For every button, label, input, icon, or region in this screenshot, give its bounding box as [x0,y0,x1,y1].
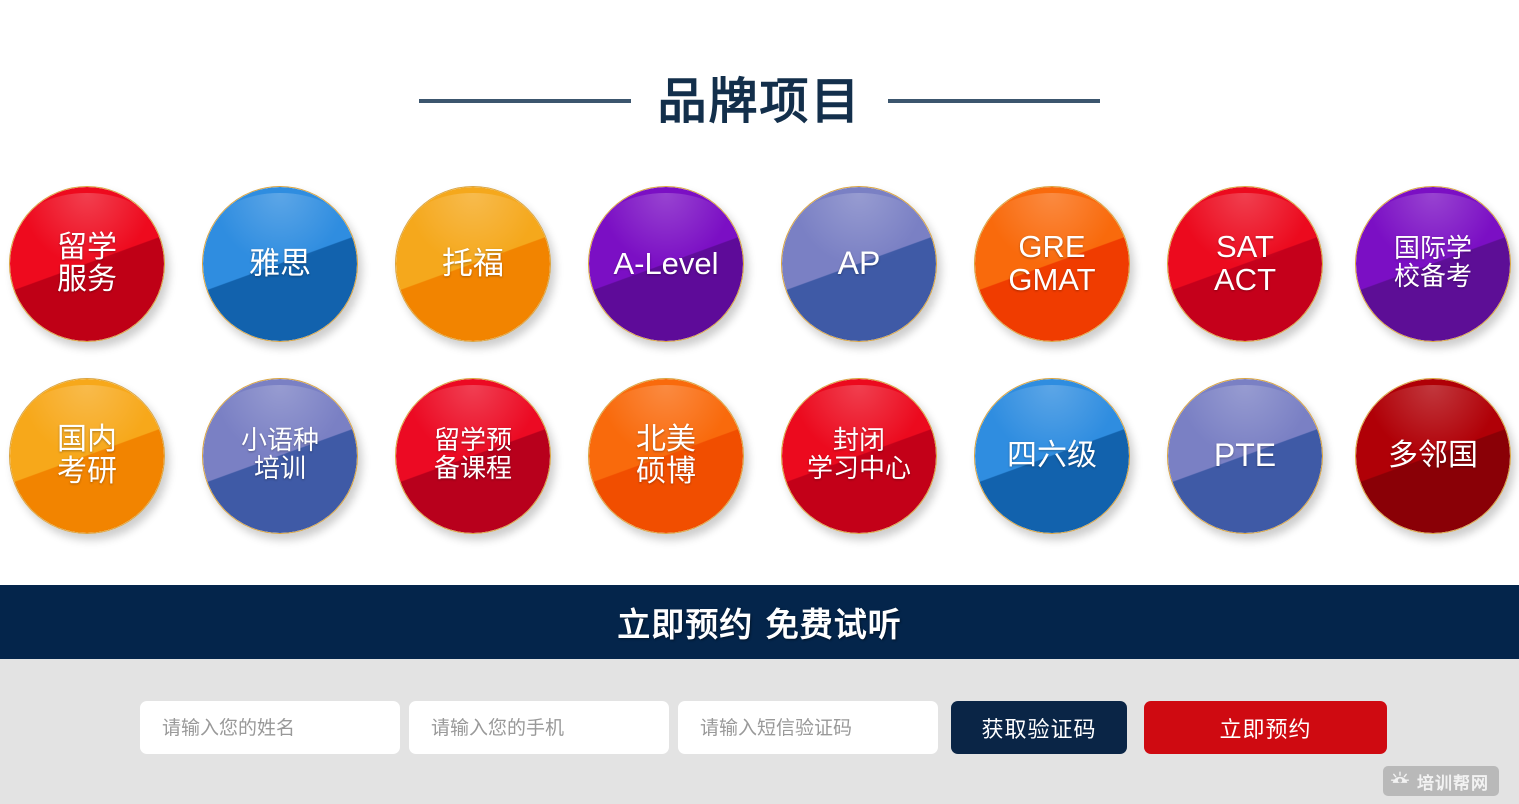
program-bubble-label: 国内 考研 [51,424,123,488]
submit-booking-button[interactable]: 立即预约 [1144,701,1387,754]
sms-code-input[interactable] [678,701,938,754]
cta-banner-text: 立即预约 免费试听 [617,598,902,646]
program-bubble-label: 雅思 [243,248,317,281]
phone-input[interactable] [409,701,669,754]
program-bubble-label: 多邻国 [1382,440,1484,472]
eye-sun-icon [1390,771,1410,791]
program-bubble-label: 留学预 备课程 [428,428,518,483]
program-bubble[interactable]: A-Level [588,186,744,342]
program-bubble[interactable]: 留学 服务 [9,186,165,342]
program-bubble[interactable]: 封闭 学习中心 [781,378,937,534]
program-bubble-label: 小语种 培训 [235,428,325,483]
program-bubble[interactable]: 雅思 [202,186,358,342]
program-bubble-label: 北美 硕博 [630,424,702,488]
program-bubble[interactable]: 国内 考研 [9,378,165,534]
name-input[interactable] [140,701,400,754]
get-verification-code-button[interactable]: 获取验证码 [951,701,1127,754]
program-bubble[interactable]: 托福 [395,186,551,342]
cta-banner: 立即预约 免费试听 [0,585,1519,659]
program-bubble-grid: 留学 服务雅思托福A-LevelAPGRE GMATSAT ACT国际学 校备考… [0,178,1519,564]
program-bubble-label: 留学 服务 [51,232,123,296]
site-watermark: 培训帮网 [1383,766,1499,796]
program-bubble[interactable]: 留学预 备课程 [395,378,551,534]
program-bubble-label: AP [832,247,887,281]
program-bubble-label: GRE GMAT [1002,231,1101,297]
section-title-row: 品牌项目 [0,62,1519,140]
program-bubble-label: A-Level [607,248,724,281]
title-rule-left [419,99,631,103]
program-bubble[interactable]: AP [781,186,937,342]
program-bubble[interactable]: GRE GMAT [974,186,1130,342]
program-bubble[interactable]: 小语种 培训 [202,378,358,534]
program-bubble-label: 国际学 校备考 [1388,236,1478,291]
program-bubble-label: 托福 [436,248,510,281]
page-title: 品牌项目 [657,77,861,126]
program-bubble[interactable]: 四六级 [974,378,1130,534]
watermark-text: 培训帮网 [1417,769,1489,794]
program-bubble[interactable]: SAT ACT [1167,186,1323,342]
program-bubble[interactable]: 多邻国 [1355,378,1511,534]
title-rule-right [888,99,1100,103]
program-bubble-label: 封闭 学习中心 [801,428,917,483]
program-bubble[interactable]: PTE [1167,378,1323,534]
program-bubble-label: SAT ACT [1208,231,1282,297]
program-bubble[interactable]: 国际学 校备考 [1355,186,1511,342]
booking-form: 获取验证码 立即预约 [140,701,1387,754]
booking-form-strip: 获取验证码 立即预约 [0,659,1519,804]
program-bubble-label: PTE [1208,439,1282,473]
program-bubble-label: 四六级 [1001,440,1103,472]
program-bubble[interactable]: 北美 硕博 [588,378,744,534]
